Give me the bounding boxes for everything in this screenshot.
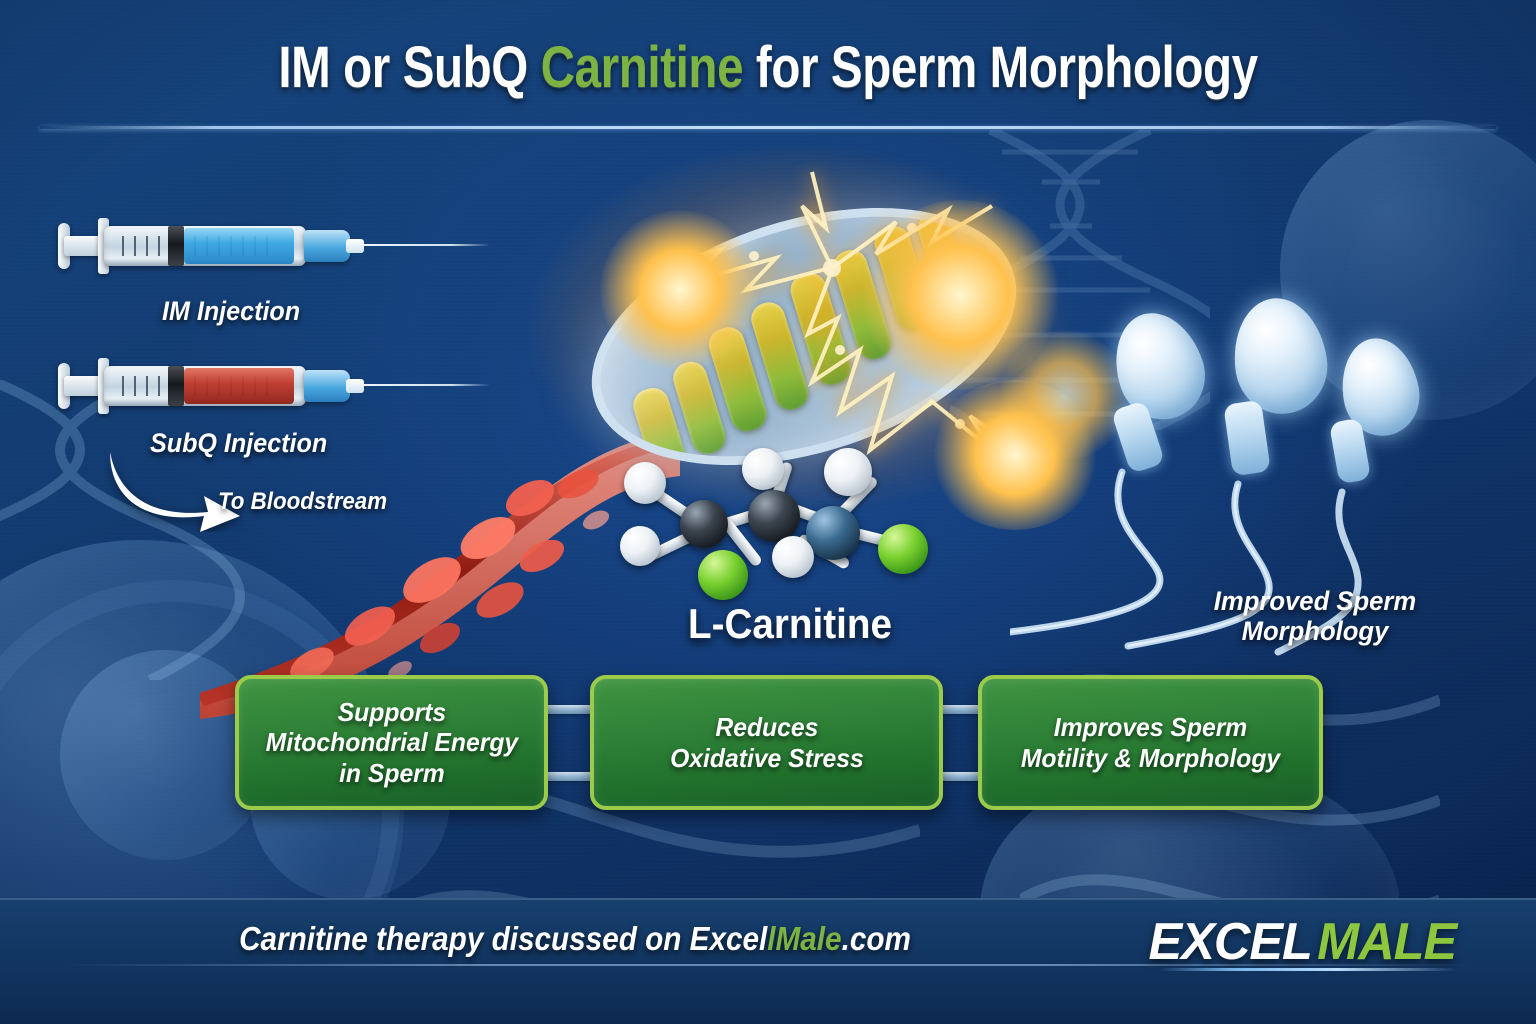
infographic-canvas: IM or SubQ Carnitine for Sperm Morpholog… [0,0,1536,1024]
footer-text-before: Carnitine therapy discussed on Excel [239,920,767,957]
logo-male: MALE [1317,912,1456,972]
footer-text-after: .com [842,920,911,957]
benefit-card-2[interactable]: Reduces Oxidative Stress [590,675,943,810]
footer-text: Carnitine therapy discussed on ExcellMal… [58,920,1093,958]
excelmale-logo[interactable]: EXCELMALE [1146,912,1458,972]
benefit-card-1-text: Supports Mitochondrial Energy in Sperm [256,697,528,787]
benefit-card-3[interactable]: Improves Sperm Motility & Morphology [978,675,1323,810]
benefit-card-1[interactable]: Supports Mitochondrial Energy in Sperm [235,675,548,810]
benefit-card-2-text: Reduces Oxidative Stress [660,712,873,772]
benefits-row: Supports Mitochondrial Energy in Sperm R… [0,0,1536,1024]
logo-excel: EXCEL [1149,912,1312,972]
benefit-card-3-text: Improves Sperm Motility & Morphology [1011,712,1289,772]
footer-text-brand: lMale [767,920,841,957]
logo-underline [1158,968,1458,971]
